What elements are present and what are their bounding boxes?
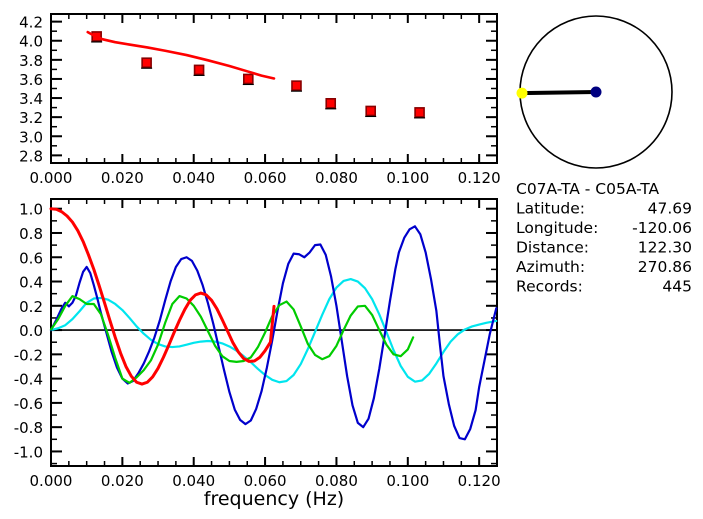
- x-tick-label: 0.120: [458, 472, 501, 490]
- y-tick-label: 3.8: [19, 52, 43, 70]
- curve-observed-blue: [51, 226, 496, 439]
- data-point-marker: [366, 106, 375, 115]
- y-tick-label: 2.8: [19, 147, 43, 165]
- x-tick-label: 0.080: [315, 169, 358, 187]
- curve-reference-red: [51, 209, 274, 384]
- y-tick-label: 0.2: [19, 298, 43, 316]
- y-tick-label: -1.0: [14, 443, 43, 461]
- data-point-marker: [195, 65, 204, 74]
- info-label-3: Azimuth:: [516, 258, 585, 276]
- y-tick-label: 0.6: [19, 249, 43, 267]
- info-label-4: Records:: [516, 278, 583, 296]
- data-point-marker: [244, 74, 253, 83]
- azimuth-circle-diagram: [517, 16, 672, 168]
- data-point-marker: [292, 81, 301, 90]
- info-label-0: Latitude:: [516, 200, 585, 218]
- data-point-marker: [142, 58, 151, 67]
- plot-frame: [51, 14, 497, 163]
- cross-correlation-spectra: 0.0000.0200.0400.0600.0800.1000.120-1.0-…: [14, 199, 501, 490]
- y-tick-label: -0.6: [14, 395, 43, 413]
- x-tick-label: 0.120: [458, 169, 501, 187]
- figure-canvas: 0.0000.0200.0400.0600.0800.1000.1202.83.…: [0, 0, 703, 519]
- y-tick-label: 4.0: [19, 33, 43, 51]
- data-point-marker: [415, 108, 424, 117]
- y-tick-label: 0.0: [19, 322, 43, 340]
- x-tick-label: 0.000: [30, 472, 73, 490]
- y-tick-label: 3.2: [19, 109, 43, 127]
- x-tick-label: 0.060: [244, 169, 287, 187]
- info-value-0: 47.69: [648, 200, 692, 218]
- station-pair-label: C07A-TA - C05A-TA: [516, 180, 660, 198]
- data-point-marker: [326, 99, 335, 108]
- y-tick-label: 0.8: [19, 225, 43, 243]
- info-value-2: 122.30: [638, 239, 692, 257]
- x-tick-label: 0.020: [101, 169, 144, 187]
- y-tick-label: 0.4: [19, 274, 43, 292]
- y-tick-label: 3.0: [19, 128, 43, 146]
- y-tick-label: 4.2: [19, 14, 43, 32]
- center-marker-dot: [591, 87, 601, 97]
- station-info-panel: C07A-TA - C05A-TALatitude:47.69Longitude…: [516, 180, 692, 296]
- x-tick-label: 0.040: [172, 169, 215, 187]
- dispersion-plot: 0.0000.0200.0400.0600.0800.1000.1202.83.…: [19, 14, 500, 187]
- y-tick-label: 3.6: [19, 71, 43, 89]
- info-label-1: Longitude:: [516, 219, 598, 237]
- x-tick-label: 0.020: [101, 472, 144, 490]
- y-tick-label: 1.0: [19, 201, 43, 219]
- model-prediction-curve: [88, 32, 274, 78]
- y-tick-label: -0.4: [14, 371, 43, 389]
- y-tick-label: 3.4: [19, 90, 43, 108]
- plot-figure: 0.0000.0200.0400.0600.0800.1000.1202.83.…: [0, 0, 703, 519]
- y-tick-label: -0.8: [14, 419, 43, 437]
- x-tick-label: 0.100: [386, 169, 429, 187]
- y-tick-label: -0.2: [14, 346, 43, 364]
- info-value-4: 445: [662, 278, 692, 296]
- azimuth-ray: [520, 92, 596, 93]
- info-label-2: Distance:: [516, 239, 589, 257]
- x-tick-label: 0.100: [386, 472, 429, 490]
- info-value-1: -120.06: [632, 219, 692, 237]
- info-value-3: 270.86: [638, 258, 692, 276]
- x-axis-label: frequency (Hz): [204, 488, 344, 510]
- x-tick-label: 0.000: [30, 169, 73, 187]
- station-marker-dot: [517, 88, 527, 98]
